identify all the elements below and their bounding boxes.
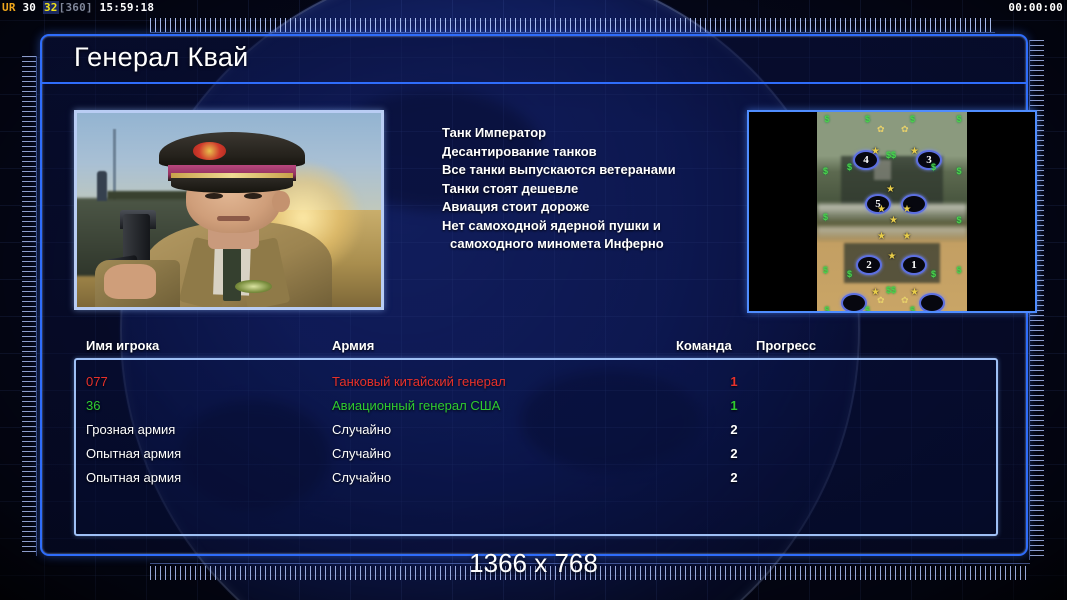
description-line: Все танки выпускаются ветеранами	[442, 161, 742, 180]
table-row[interactable]: Опытная армия Случайно 2	[76, 466, 996, 490]
panel-header: Генерал Квай	[42, 36, 1026, 84]
ruler-left	[22, 56, 36, 556]
cell-army: Танковый китайский генерал	[332, 370, 506, 394]
map-preview-image: 4 3 5 1 2 $ $ $ $ $ $ $ $ $ $ $ $ $	[817, 112, 967, 311]
start-position-3: 3	[916, 150, 942, 170]
player-table-headers: Имя игрока Армия Команда Прогресс	[42, 338, 1026, 360]
cell-player-name: Грозная армия	[86, 418, 175, 442]
frame-count: [360]	[59, 1, 93, 14]
table-row[interactable]: Грозная армия Случайно 2	[76, 418, 996, 442]
cell-player-name: Опытная армия	[86, 466, 181, 490]
description-line: Нет самоходной ядерной пушки и	[442, 217, 742, 236]
player-list: 077 Танковый китайский генерал 1 36 Авиа…	[74, 358, 998, 536]
start-position-2	[841, 293, 867, 311]
cell-army: Случайно	[332, 442, 391, 466]
header-army: Армия	[332, 338, 374, 353]
description-line: самоходного миномета Инферно	[442, 235, 742, 254]
cell-player-name: 077	[86, 370, 108, 394]
cell-team: 2	[716, 442, 752, 466]
description-line: Танки стоят дешевле	[442, 180, 742, 199]
content-row: Танк Император Десантирование танков Все…	[42, 86, 1026, 318]
table-row[interactable]: 077 Танковый китайский генерал 1	[76, 370, 996, 394]
resolution-label: 1366 x 768	[0, 548, 1067, 579]
debug-status-left: UR 30 32[360] 15:59:18	[2, 0, 154, 16]
table-row[interactable]: Опытная армия Случайно 2	[76, 442, 996, 466]
description-line: Авиация стоит дороже	[442, 198, 742, 217]
ruler-left-line	[36, 56, 37, 556]
cell-progress	[786, 424, 982, 436]
header-progress: Прогресс	[756, 338, 816, 353]
table-row[interactable]: 36 Авиационный генерал США 1	[76, 394, 996, 418]
fps-value: 30	[22, 1, 36, 14]
cell-team: 2	[716, 466, 752, 490]
portrait-artwork	[77, 113, 381, 307]
cell-team: 2	[716, 418, 752, 442]
header-team: Команда	[676, 338, 732, 353]
header-player-name: Имя игрока	[86, 338, 159, 353]
system-clock: 15:59:18	[100, 1, 155, 14]
cell-progress	[786, 448, 982, 460]
ruler-top-line	[150, 32, 995, 33]
page-title: Генерал Квай	[74, 42, 249, 73]
map-preview: 4 3 5 1 2 $ $ $ $ $ $ $ $ $ $ $ $ $	[747, 110, 1037, 313]
general-portrait	[74, 110, 384, 310]
match-timer: 00:00:00	[1008, 0, 1063, 16]
general-description: Танк Император Десантирование танков Все…	[442, 124, 742, 254]
start-position-empty	[919, 293, 945, 311]
cell-team: 1	[716, 394, 752, 418]
cell-player-name: Опытная армия	[86, 442, 181, 466]
cell-progress	[786, 472, 982, 484]
debug-status-bar: UR 30 32[360] 15:59:18 00:00:00	[0, 0, 1067, 16]
cell-player-name: 36	[86, 394, 100, 418]
ur-label: UR	[2, 1, 16, 14]
cell-progress	[786, 400, 982, 412]
description-line: Танк Император	[442, 124, 742, 143]
ruler-top	[150, 18, 995, 32]
cell-army: Авиационный генерал США	[332, 394, 500, 418]
fps-peak-value: 32	[43, 1, 59, 14]
description-line: Десантирование танков	[442, 143, 742, 162]
cell-progress	[786, 376, 982, 388]
cell-army: Случайно	[332, 418, 391, 442]
cell-army: Случайно	[332, 466, 391, 490]
loading-screen-panel: Генерал Квай	[40, 34, 1028, 556]
cell-team: 1	[716, 370, 752, 394]
